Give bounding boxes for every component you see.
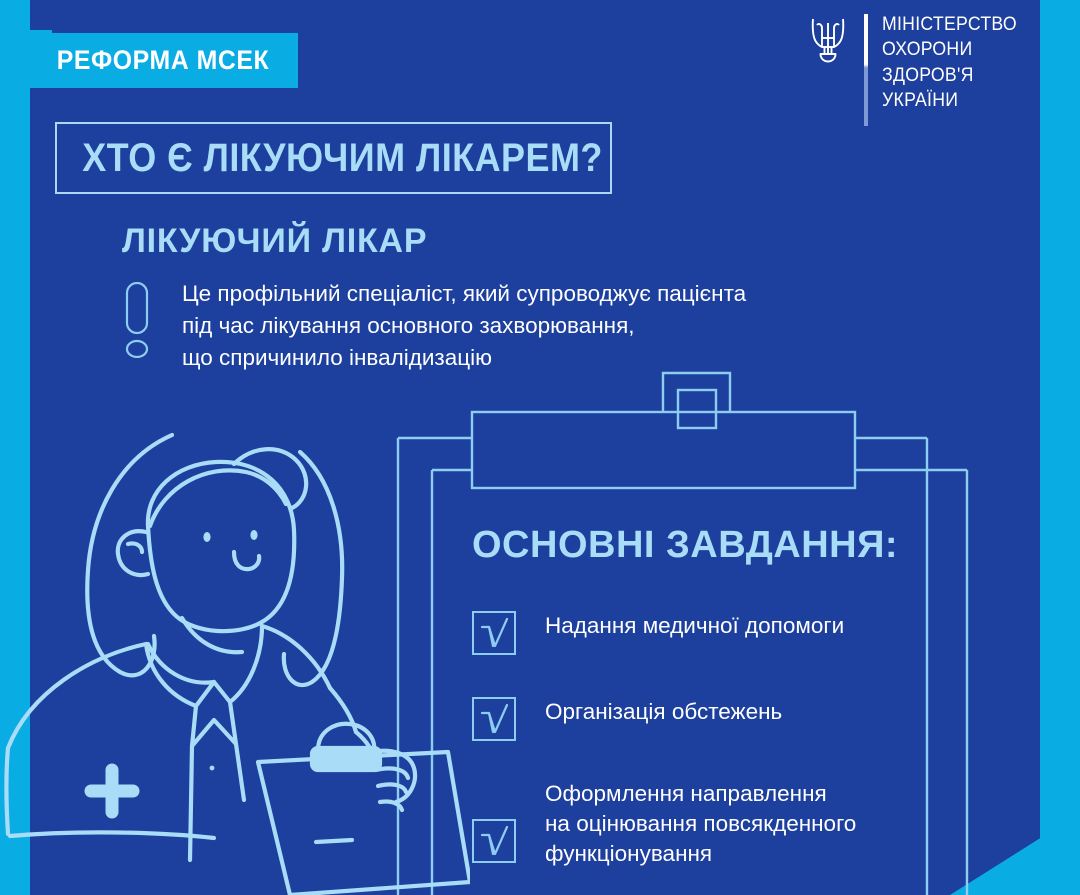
logo-line-2: ОХОРОНИ — [882, 37, 1017, 62]
task-1-line-1: Надання медичної допомоги — [545, 611, 844, 641]
task-item: Організація обстежень — [472, 697, 782, 741]
section-subtitle: ЛІКУЮЧИЙ ЛІКАР — [122, 222, 427, 261]
definition-block: Це профільний спеціаліст, який супроводж… — [124, 278, 924, 374]
task-item: Надання медичної допомоги — [472, 611, 844, 655]
logo-divider — [864, 14, 868, 126]
definition-line-2: під час лікування основного захворювання… — [182, 310, 924, 342]
task-3-line-2: на оцінювання повсякденного — [545, 809, 856, 839]
logo-text: МІНІСТЕРСТВО ОХОРОНИ ЗДОРОВ'Я УКРАЇНИ — [882, 12, 1017, 113]
definition-text: Це профільний спеціаліст, який супроводж… — [182, 278, 924, 374]
task-label: Організація обстежень — [545, 697, 782, 727]
infographic-poster: РЕФОРМА МСЕК МІНІСТЕРСТВО ОХОРОНИ ЗДОРОВ… — [0, 0, 1080, 895]
page-title: ХТО Є ЛІКУЮЧИМ ЛІКАРЕМ? — [57, 136, 603, 181]
checkbox-checked-icon — [472, 819, 516, 863]
logo-line-1: МІНІСТЕРСТВО — [882, 12, 1017, 37]
ukraine-trident-icon — [806, 16, 850, 64]
page-title-box: ХТО Є ЛІКУЮЧИМ ЛІКАРЕМ? — [55, 122, 612, 194]
task-label: Оформлення направлення на оцінювання пов… — [545, 779, 856, 869]
definition-line-3: що спричинило інвалідизацію — [182, 342, 924, 374]
exclamation-mark-icon — [124, 282, 150, 358]
task-label: Надання медичної допомоги — [545, 611, 844, 641]
bottom-right-corner-wedge — [950, 813, 1080, 895]
task-2-line-1: Організація обстежень — [545, 697, 782, 727]
tasks-heading: ОСНОВНІ ЗАВДАННЯ: — [472, 524, 898, 567]
logo-line-4: УКРАЇНИ — [882, 88, 1017, 113]
reform-badge-label: РЕФОРМА МСЕК — [20, 45, 269, 76]
reform-badge: РЕФОРМА МСЕК — [20, 33, 298, 88]
checkbox-checked-icon — [472, 611, 516, 655]
ministry-logo: МІНІСТЕРСТВО ОХОРОНИ ЗДОРОВ'Я УКРАЇНИ — [806, 12, 1036, 134]
task-item: Оформлення направлення на оцінювання пов… — [472, 783, 856, 869]
task-3-line-1: Оформлення направлення — [545, 779, 856, 809]
logo-line-3: ЗДОРОВ'Я — [882, 63, 1017, 88]
checkbox-checked-icon — [472, 697, 516, 741]
task-3-line-3: функціонування — [545, 839, 856, 869]
right-accent-band — [1040, 0, 1080, 895]
definition-line-1: Це профільний спеціаліст, який супроводж… — [182, 278, 924, 310]
female-doctor-with-clipboard-illustration — [0, 430, 470, 895]
